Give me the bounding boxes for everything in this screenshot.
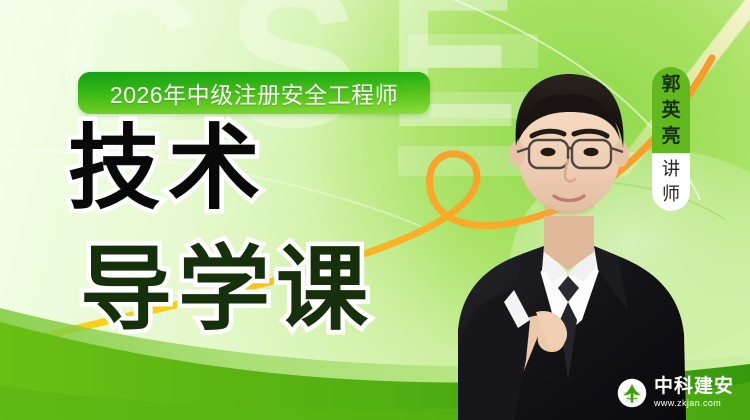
zkjan-logo-icon [617,378,647,408]
brand-logo: 中科建安 www.zkjan.com [617,377,734,408]
brand-url: www.zkjan.com [654,399,734,408]
instructor-name-char-2: 英 [661,98,680,124]
instructor-title: 讲 师 [652,153,690,211]
instructor-name: 郭 英 亮 [652,67,690,153]
instructor-title-char-1: 讲 [662,157,680,182]
instructor-title-char-2: 师 [662,182,680,207]
page-title: 技术 导学课 [68,126,374,335]
course-exam-badge: 2026年中级注册安全工程师 [78,72,430,114]
instructor-badge: 郭 英 亮 讲 师 [652,67,690,211]
brand-name: 中科建安 [654,377,734,396]
brand-logo-text: 中科建安 www.zkjan.com [654,377,734,408]
headline-line-1: 技术 [68,126,374,213]
course-exam-badge-label: 2026年中级注册安全工程师 [110,76,398,110]
course-poster: CSE [0,0,750,420]
instructor-name-char-3: 亮 [661,124,680,150]
headline-line-2: 导学课 [80,247,374,334]
instructor-name-char-1: 郭 [661,72,680,98]
